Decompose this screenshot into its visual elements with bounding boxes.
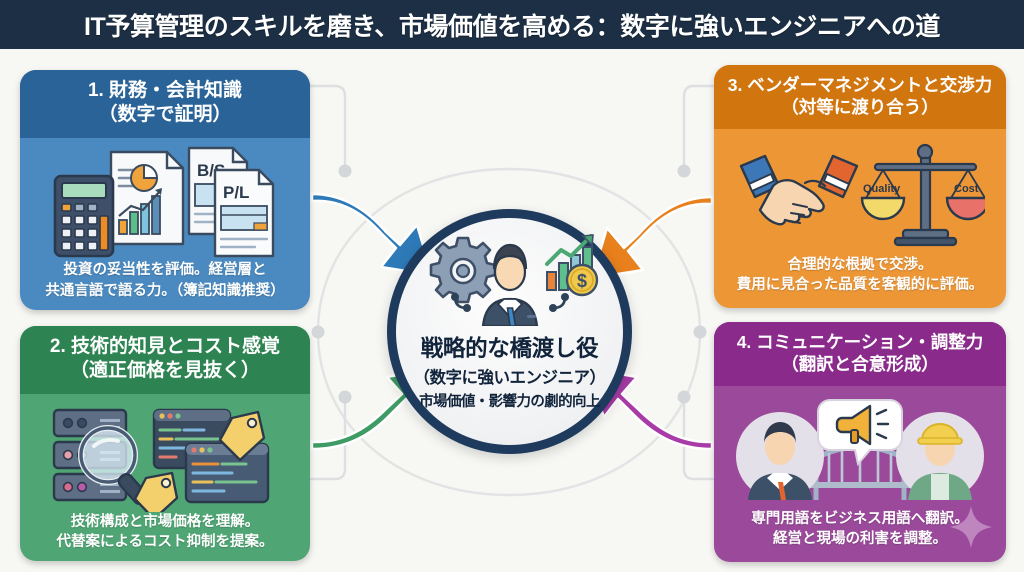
card-3-artwork: Quality Cost	[722, 135, 998, 255]
card-2-description: 技術構成と市場価格を理解。 代替案によるコスト抑制を提案。	[56, 512, 273, 553]
card-2-body: 技術構成と市場価格を理解。 代替案によるコスト抑制を提案。	[20, 394, 310, 561]
card-2-header: 2. 技術的知見とコスト感覚 （適正価格を見抜く）	[20, 326, 310, 394]
scale-label-quality: Quality	[863, 183, 901, 195]
card-3-header: 3. ベンダーマネジメントと交渉力 （対等に渡り合う）	[714, 65, 1006, 129]
scale-label-cost: Cost	[954, 183, 979, 195]
card-2-title-line2: （適正価格を見抜く）	[28, 359, 302, 383]
card-4-header: 4. コミュニケーション・調整力 （翻訳と合意形成）	[714, 322, 1006, 386]
card-1-header: 1. 財務・会計知識 （数字で証明）	[20, 70, 310, 138]
card-3-title-line1: 3. ベンダーマネジメントと交渉力	[722, 74, 998, 96]
businessman-icon	[483, 245, 537, 326]
hub-subtitle: （数字に強いエンジニア）	[414, 364, 606, 388]
card-financial-knowledge[interactable]: 1. 財務・会計知識 （数字で証明）	[20, 70, 310, 310]
card-2-artwork	[28, 400, 302, 512]
card-2-desc-line2: 代替案によるコスト抑制を提案。	[56, 532, 273, 553]
card-4-artwork	[722, 392, 998, 509]
card-communication-coordination[interactable]: 4. コミュニケーション・調整力 （翻訳と合意形成）	[714, 322, 1006, 562]
gear-icon	[431, 238, 495, 302]
worker-avatar-icon	[896, 412, 984, 500]
code-window-icon	[186, 444, 268, 502]
profit-loss-icon: P/L	[215, 170, 273, 256]
page-header: IT予算管理のスキルを磨き、市場価値を高める：数字に強いエンジニアへの道	[0, 0, 1024, 49]
sparkle-icon	[948, 504, 994, 550]
handshake-icon	[741, 156, 857, 224]
card-1-body: B/S P/L	[20, 138, 310, 310]
dollar-glyph: $	[576, 271, 586, 291]
calculator-icon	[55, 176, 113, 256]
balance-scale-icon: Quality Cost	[862, 145, 985, 245]
card-3-desc-line2: 費用に見合った品質を客観的に評価。	[737, 275, 984, 296]
card-3-description: 合理的な根拠で交渉。 費用に見合った品質を客観的に評価。	[737, 255, 984, 296]
card-3-title-line2: （対等に渡り合う）	[722, 96, 998, 118]
card-1-desc-line2: 共通言語で語る力。（簿記知識推奨）	[45, 281, 284, 302]
card-1-desc-line1: 投資の妥当性を評価。経営層と	[45, 260, 284, 281]
card-2-title-line1: 2. 技術的知見とコスト感覚	[28, 335, 302, 359]
card-technical-cost-sense[interactable]: 2. 技術的知見とコスト感覚 （適正価格を見抜く）	[20, 326, 310, 561]
card-4-title-line2: （翻訳と合意形成）	[722, 353, 998, 375]
card-1-title-line2: （数字で証明）	[28, 103, 302, 127]
central-hub[interactable]: $ 戦略的な橋渡し役 （数字に強いエンジニア） 市場価値・影響力の劇的向上	[387, 209, 632, 454]
dollar-coin-icon: $	[567, 265, 597, 295]
page-title: IT予算管理のスキルを磨き、市場価値を高める：数字に強いエンジニアへの道	[84, 7, 940, 43]
pl-label: P/L	[223, 183, 249, 202]
card-1-description: 投資の妥当性を評価。経営層と 共通言語で語る力。（簿記知識推奨）	[45, 260, 284, 301]
hub-note: 市場価値・影響力の劇的向上	[419, 390, 600, 411]
hub-artwork: $	[415, 234, 605, 326]
card-4-desc-line1: 専門用語をビジネス用語へ翻訳。	[751, 509, 969, 530]
hub-title: 戦略的な橋渡し役	[421, 331, 599, 363]
node-connector-right	[549, 293, 569, 312]
card-4-desc-line2: 経営と現場の利害を調整。	[751, 529, 969, 550]
card-1-artwork: B/S P/L	[28, 144, 302, 261]
chart-report-icon	[111, 152, 183, 244]
price-tag-icon	[135, 473, 177, 512]
card-4-description: 専門用語をビジネス用語へ翻訳。 経営と現場の利害を調整。	[751, 509, 969, 550]
card-2-desc-line1: 技術構成と市場価格を理解。	[56, 512, 273, 533]
infographic-stage: 1. 財務・会計知識 （数字で証明）	[0, 49, 1024, 572]
card-4-body: 専門用語をビジネス用語へ翻訳。 経営と現場の利害を調整。	[714, 386, 1006, 560]
businessman-avatar-icon	[736, 412, 824, 500]
card-3-body: Quality Cost 合理的な根拠で交渉。 費用に見合った品質を客観的に評	[714, 129, 1006, 306]
card-1-title-line1: 1. 財務・会計知識	[28, 79, 302, 103]
card-3-desc-line1: 合理的な根拠で交渉。	[737, 255, 984, 276]
card-vendor-management[interactable]: 3. ベンダーマネジメントと交渉力 （対等に渡り合う）	[714, 65, 1006, 308]
card-4-title-line1: 4. コミュニケーション・調整力	[722, 331, 998, 353]
